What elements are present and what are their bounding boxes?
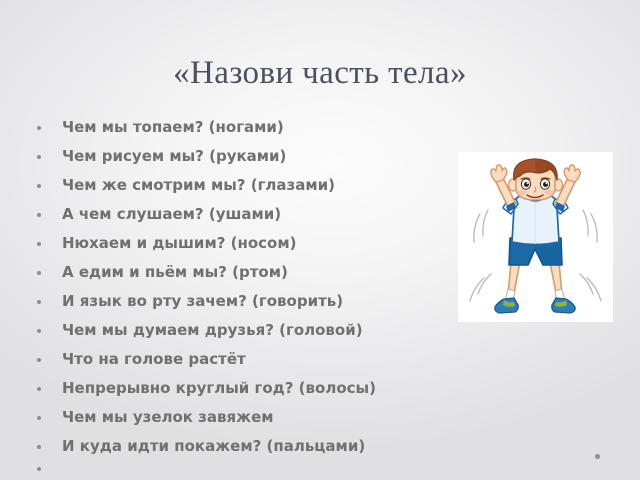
list-item-text: Что на голове растёт <box>62 350 246 368</box>
motion-lines-left <box>470 210 491 301</box>
illustration-card <box>458 152 613 322</box>
list-item: Чем мы думаем друзья? (головой) <box>30 316 500 345</box>
list-item: Чем рисуем мы? (руками) <box>30 142 500 171</box>
list-item: И язык во рту зачем? (говорить) <box>30 287 500 316</box>
list-item-empty <box>30 461 500 477</box>
list-item-text: Чем рисуем мы? (руками) <box>62 147 286 165</box>
list-item: Чем мы узелок завяжем <box>30 403 500 432</box>
list-item-text: Чем же смотрим мы? (глазами) <box>62 176 335 194</box>
list-item-text: Чем мы топаем? (ногами) <box>62 118 284 136</box>
list-item-text: И язык во рту зачем? (говорить) <box>62 292 343 310</box>
list-item-text: А едим и пьём мы? (ртом) <box>62 263 288 281</box>
list-item-text: А чем слушаем? (ушами) <box>62 205 281 223</box>
head <box>509 159 563 200</box>
cartoon-boy-jumping-jacks-icon <box>458 152 613 322</box>
list-item: Чем мы топаем? (ногами) <box>30 113 500 142</box>
list-item: Непрерывно круглый год? (волосы) <box>30 374 500 403</box>
legs <box>505 262 565 303</box>
list-item-text: Нюхаем и дышим? (носом) <box>62 234 296 252</box>
list-item: А едим и пьём мы? (ртом) <box>30 258 500 287</box>
motion-lines-right <box>580 210 601 301</box>
list-item-text: Непрерывно круглый год? (волосы) <box>62 379 376 397</box>
list-item: Что на голове растёт <box>30 345 500 374</box>
stray-bullet-artifact <box>595 454 600 459</box>
page-title: «Назови часть тела» <box>0 55 640 92</box>
list-item-text: Чем мы узелок завяжем <box>62 408 274 426</box>
list-item: Нюхаем и дышим? (носом) <box>30 229 500 258</box>
list-item: А чем слушаем? (ушами) <box>30 200 500 229</box>
list-item: И куда идти покажем? (пальцами) <box>30 432 500 461</box>
slide-canvas: «Назови часть тела» Чем мы топаем? (нога… <box>0 0 640 480</box>
list-item-text: Чем мы думаем друзья? (головой) <box>62 321 363 339</box>
list-item: Чем же смотрим мы? (глазами) <box>30 171 500 200</box>
list-item-text: И куда идти покажем? (пальцами) <box>62 437 365 455</box>
bullet-list: Чем мы топаем? (ногами) Чем рисуем мы? (… <box>30 113 500 477</box>
shoes <box>495 298 575 313</box>
